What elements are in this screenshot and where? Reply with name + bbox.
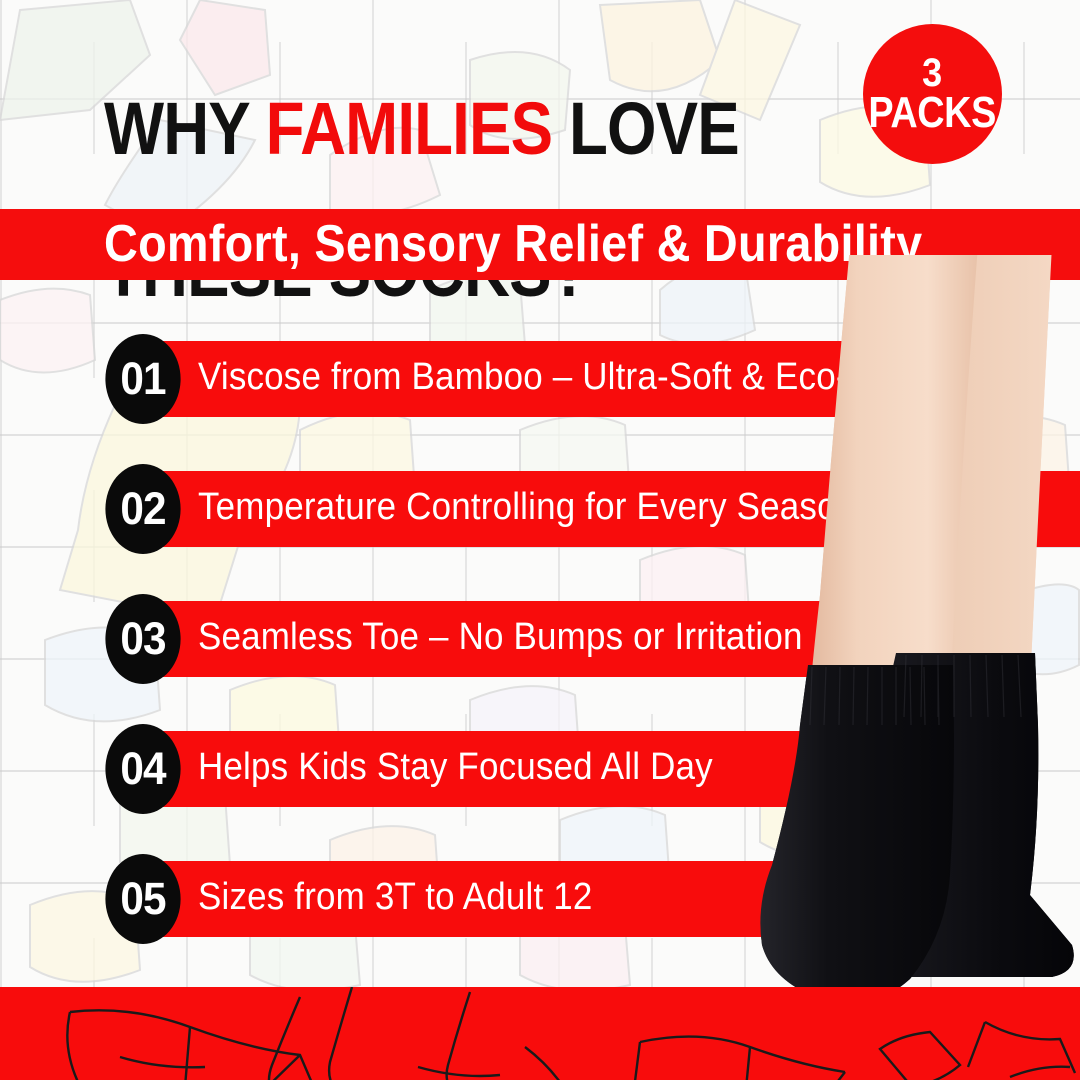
feature-number-badge: 05 xyxy=(105,854,180,944)
feature-number-badge: 02 xyxy=(105,464,180,554)
bottom-red-band xyxy=(0,987,1080,1080)
feature-number-badge: 01 xyxy=(105,334,180,424)
feature-number-badge: 04 xyxy=(105,724,180,814)
feature-number-badge: 03 xyxy=(105,594,180,684)
feature-text: Sizes from 3T to Adult 12 xyxy=(198,876,593,919)
legs-overlay xyxy=(700,255,1080,995)
feature-text: Helps Kids Stay Focused All Day xyxy=(198,746,713,789)
product-infographic: WHY FAMILIES LOVE THESE SOCKS? 3 PACKS C… xyxy=(0,0,1080,1080)
bottom-sock-outline-motif xyxy=(0,987,1080,1080)
feature-bar: Sizes from 3T to Adult 12 xyxy=(140,861,790,937)
